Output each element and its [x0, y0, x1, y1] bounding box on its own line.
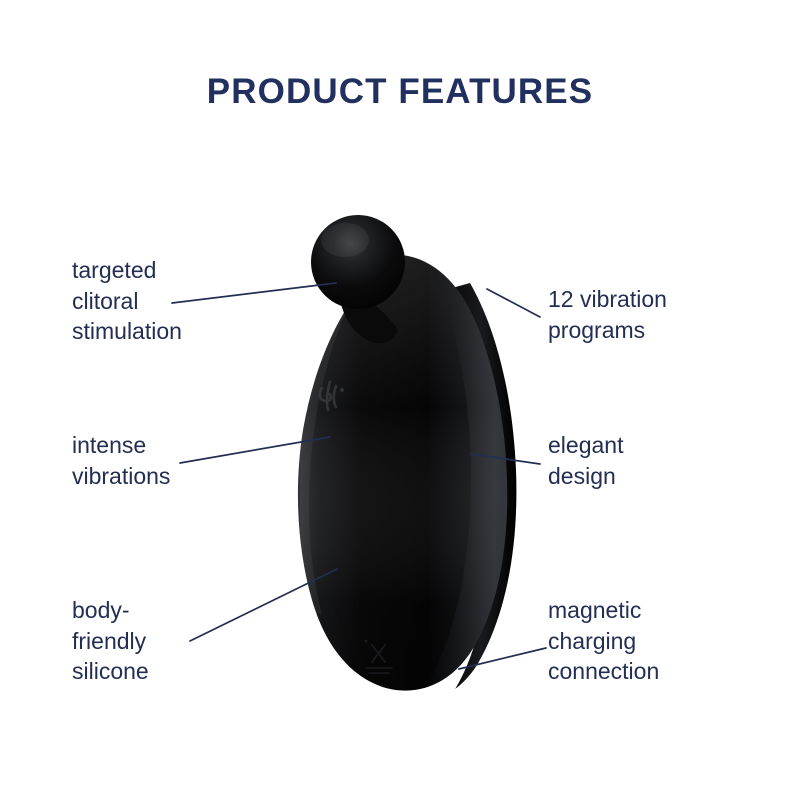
callout-magnetic-charging-connection: magnetic charging connection: [548, 595, 659, 687]
product-ball-highlight: [321, 223, 369, 257]
leader-line-targeted-clitoral-stimulation: [172, 283, 336, 303]
callout-body-friendly-silicone: body- friendly silicone: [72, 595, 149, 687]
callout-12-vibration-programs: 12 vibration programs: [548, 284, 667, 345]
callout-intense-vibrations: intense vibrations: [72, 430, 170, 491]
leader-line-12-vibration-programs: [487, 289, 540, 317]
callout-elegant-design: elegant design: [548, 430, 623, 491]
product-features-infographic: PRODUCT FEATURES: [0, 0, 800, 800]
callout-targeted-clitoral-stimulation: targeted clitoral stimulation: [72, 255, 182, 347]
